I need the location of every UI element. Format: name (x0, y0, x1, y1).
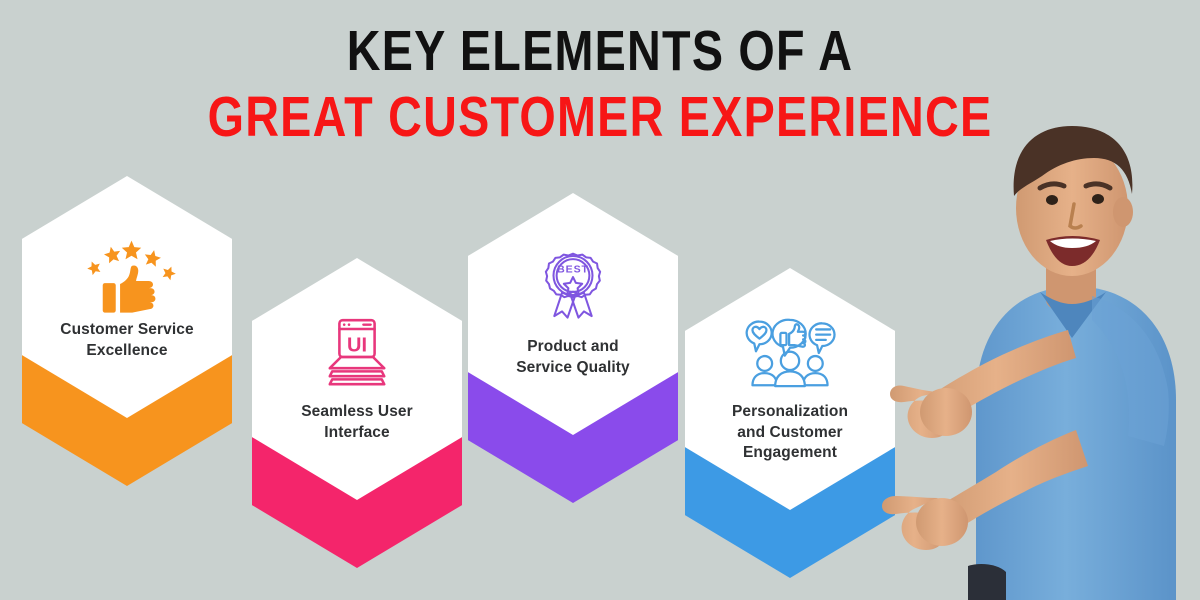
page-title-line2: GREAT CUSTOMER EXPERIENCE (108, 88, 1092, 148)
shirt (976, 288, 1176, 600)
best-award-ribbon-icon: BEST (529, 249, 617, 327)
card-label-line1: Product and (516, 337, 630, 358)
teeth (1050, 239, 1096, 249)
eyebrow-right (1086, 184, 1110, 188)
hand-upper (890, 385, 952, 438)
nose (1070, 204, 1081, 228)
eye-left (1046, 195, 1058, 205)
card-label: Seamless User Interface (301, 402, 413, 443)
arm-lower (935, 430, 1088, 531)
ear (1113, 197, 1133, 227)
card-label: Product and Service Quality (516, 337, 630, 378)
title-block: KEY ELEMENTS OF A GREAT CUSTOMER EXPERIE… (0, 22, 1200, 148)
card-label-line2: and Customer (732, 423, 848, 444)
mouth (1046, 236, 1100, 266)
shirt-collar (1040, 292, 1106, 338)
card-label-line2: Excellence (60, 341, 193, 362)
card-label-line2: Interface (301, 423, 413, 444)
eye-right (1092, 194, 1104, 204)
card-label-line1: Seamless User (301, 402, 413, 423)
neck (1046, 250, 1096, 314)
ui-icon-text: UI (347, 335, 367, 357)
card-label: Personalization and Customer Engagement (732, 402, 848, 464)
presenter-photo (880, 100, 1200, 600)
people-speech-bubbles-icon (746, 314, 834, 392)
face (1016, 140, 1128, 276)
infographic-canvas: KEY ELEMENTS OF A GREAT CUSTOMER EXPERIE… (0, 0, 1200, 600)
eyebrow-left (1040, 184, 1064, 188)
pants (968, 564, 1006, 600)
card-label-line1: Personalization (732, 402, 848, 423)
hair (1014, 126, 1133, 196)
card-label-line2: Service Quality (516, 358, 630, 379)
five-stars-thumbs-up-icon (83, 232, 171, 310)
card-label-line3: Engagement (732, 443, 848, 464)
page-title-line1: KEY ELEMENTS OF A (108, 22, 1092, 82)
ui-browser-window-icon: UI (313, 314, 401, 392)
card-label-line1: Customer Service (60, 320, 193, 341)
card-label: Customer Service Excellence (60, 320, 193, 361)
sleeve-right (1092, 296, 1169, 446)
arm-upper (917, 330, 1076, 427)
best-badge-text: BEST (557, 264, 589, 276)
